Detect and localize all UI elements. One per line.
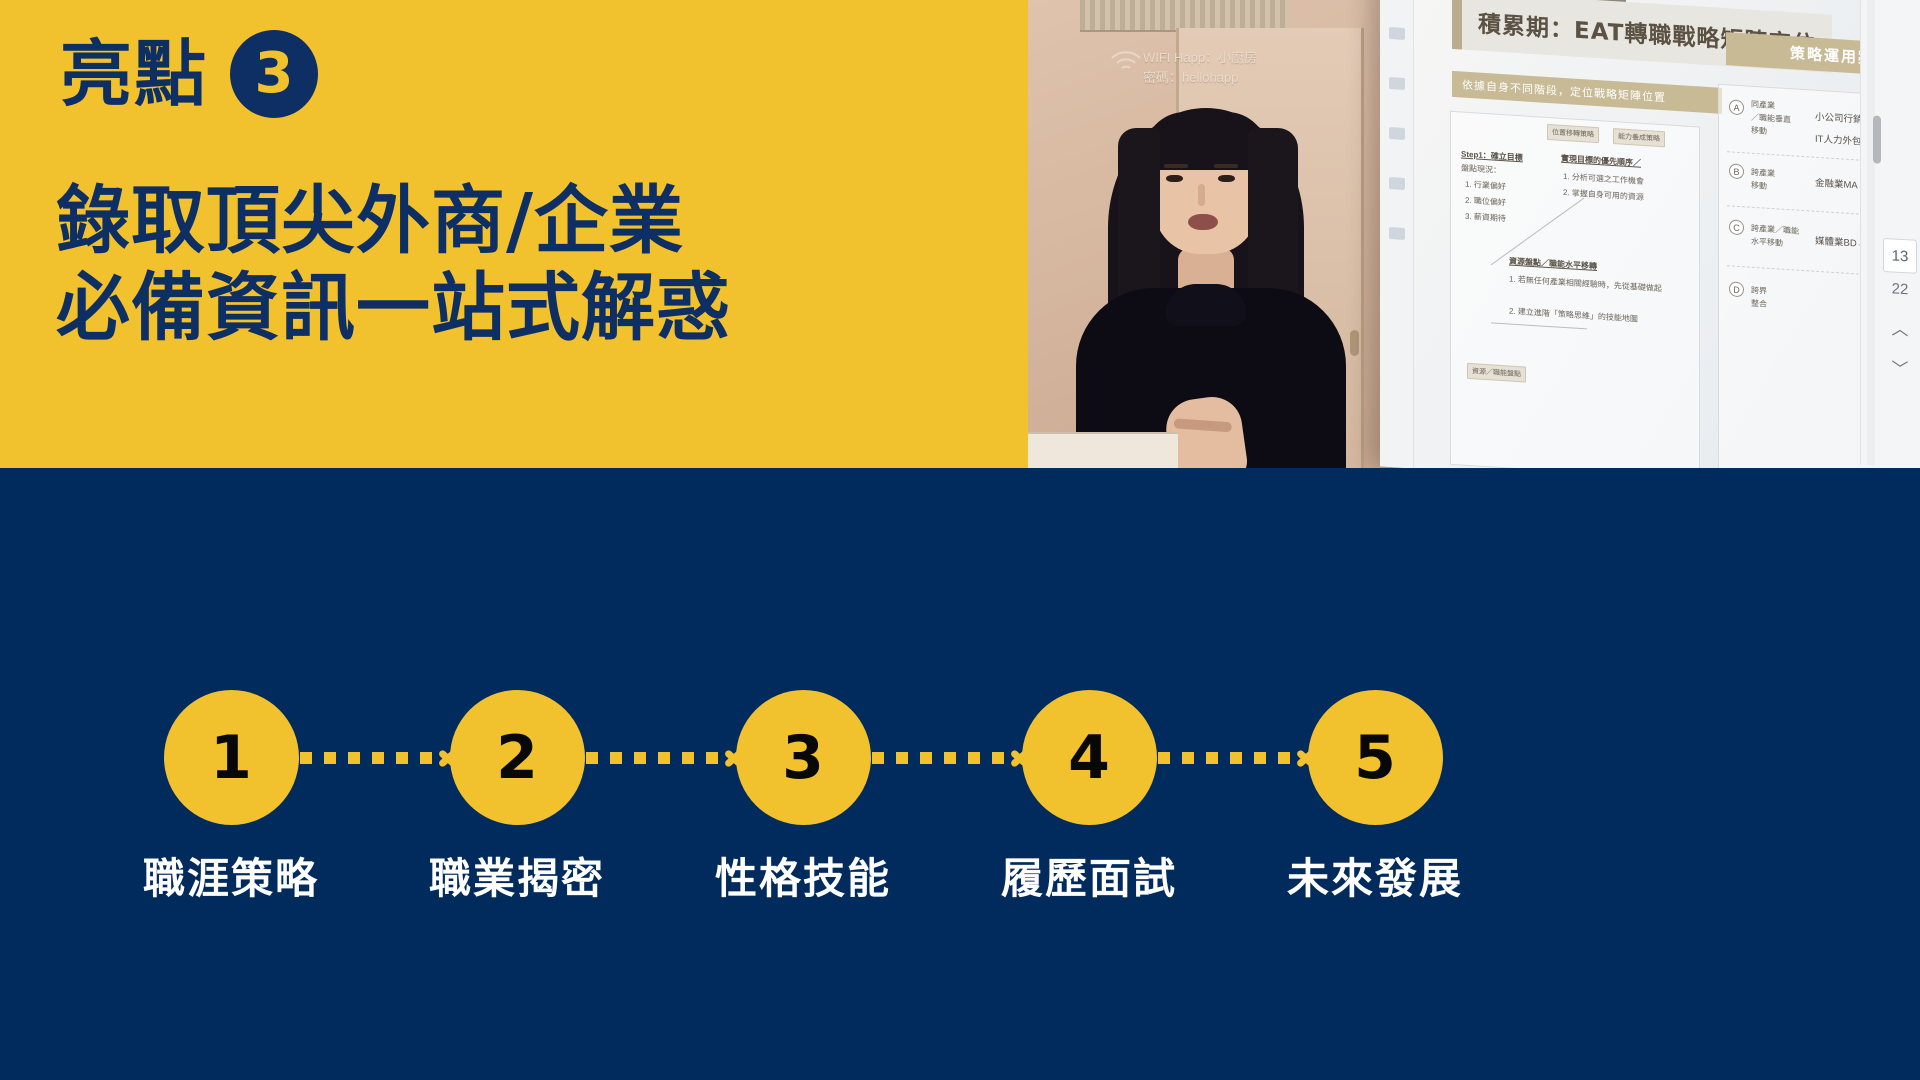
step-item-3[interactable]: 3 性格技能 (693, 690, 913, 906)
bottom-band: 1 職涯策略 2 職業揭密 3 性格技能 4 履歷面試 5 未來發展 (0, 468, 1920, 1080)
slide-content: 回顧 重點 積累期：EAT轉職戰略矩陣定位 依據自身不同階段，定位戰略矩陣位置 … (1426, 0, 1920, 468)
matrix-block3-line1: 1. 若無任何產業相關經驗時，先從基礎做起 (1509, 273, 1679, 296)
step-label: 職涯策略 (121, 845, 341, 906)
step-label: 未來發展 (1265, 845, 1485, 906)
chevron-up-icon[interactable]: ︿ (1883, 320, 1917, 339)
step-item-5[interactable]: 5 未來發展 (1265, 690, 1485, 906)
matrix-chip-a: 位置移轉策略 (1547, 124, 1599, 143)
headline-panel: 亮點 3 錄取頂尖外商/企業 必備資訊一站式解惑 (0, 0, 1028, 468)
scrollbar-thumb[interactable] (1873, 115, 1881, 163)
wifi-note: WIFI Happ：小廚房 密碼：hellohapp (1143, 48, 1257, 87)
step-number-badge[interactable]: 1 (164, 690, 299, 825)
eyebrow-row: 亮點 3 (60, 30, 318, 118)
case-badge-c: C (1729, 219, 1744, 235)
top-band: 亮點 3 錄取頂尖外商/企業 必備資訊一站式解惑 WIFI Happ：小廚房 密… (0, 0, 1920, 468)
step-label: 性格技能 (693, 845, 913, 906)
strip-thumb-3[interactable] (1389, 127, 1405, 140)
wifi-password-line: 密碼：hellohapp (1143, 68, 1257, 88)
matrix-block3-head: 資源盤點／職能水平移轉 (1509, 255, 1597, 273)
step-number-badge[interactable]: 5 (1308, 690, 1443, 825)
strip-thumb-5[interactable] (1389, 227, 1405, 240)
step-label: 履歷面試 (979, 845, 1199, 906)
matrix-block1-line2: 1. 行業偏好 (1465, 179, 1506, 194)
wifi-ssid-line: WIFI Happ：小廚房 (1143, 48, 1257, 68)
case-badge-a: A (1729, 99, 1744, 115)
slide-thumbnail-strip[interactable] (1380, 0, 1414, 468)
matrix-block1-line3: 2. 職位偏好 (1465, 195, 1506, 210)
slide-canvas: 亮點 3 錄取頂尖外商/企業 必備資訊一站式解惑 WIFI Happ：小廚房 密… (0, 0, 1920, 1080)
headline-line-1: 錄取頂尖外商/企業 (56, 178, 731, 265)
step-item-4[interactable]: 4 履歷面試 (979, 690, 1199, 906)
headline-line-2: 必備資訊一站式解惑 (56, 265, 731, 352)
slide-nav-rail: 13 22 ︿ ﹀ (1860, 0, 1920, 468)
slide-subtitle: 依據自身不同階段，定位戰略矩陣位置 (1452, 71, 1722, 114)
matrix-block2-head: 實現目標的優先順序／ (1561, 153, 1641, 171)
presenter-video: WIFI Happ：小廚房 密碼：hellohapp (1028, 0, 1920, 468)
wifi-icon (1110, 50, 1142, 74)
strip-thumb-4[interactable] (1389, 177, 1405, 190)
page-title: 錄取頂尖外商/企業 必備資訊一站式解惑 (56, 178, 731, 351)
mouth (1188, 214, 1218, 230)
step-number-badge[interactable]: 2 (450, 690, 585, 825)
slide-matrix-panel: 位置移轉策略 能力養成策略 Step1：確立目標 盤點現況： 1. 行業偏好 2… (1450, 111, 1700, 468)
eyebrow-label: 亮點 (60, 38, 208, 110)
matrix-block1-line1: 盤點現況： (1461, 162, 1501, 177)
step-number-badge[interactable]: 4 (1022, 690, 1157, 825)
step-item-2[interactable]: 2 職業揭密 (407, 690, 627, 906)
strip-thumb-1[interactable] (1389, 27, 1405, 40)
nose (1198, 184, 1205, 206)
course-stepper: 1 職涯策略 2 職業揭密 3 性格技能 4 履歷面試 5 未來發展 (0, 690, 1920, 890)
step-number-badge[interactable]: 3 (736, 690, 871, 825)
total-pages-label: 22 (1883, 280, 1917, 299)
matrix-chip-b: 能力養成策略 (1613, 128, 1665, 147)
matrix-block1-line4: 3. 薪資期待 (1465, 211, 1506, 226)
current-page-field[interactable]: 13 (1883, 238, 1917, 274)
eyebrow-right (1214, 164, 1238, 168)
scrollbar-track[interactable] (1867, 0, 1875, 465)
case-role-d: 跨界 整合 (1751, 285, 1805, 314)
case-badge-b: B (1729, 163, 1744, 179)
projected-slide: 回顧 重點 積累期：EAT轉職戰略矩陣定位 依據自身不同階段，定位戰略矩陣位置 … (1380, 0, 1920, 468)
step-item-1[interactable]: 1 職涯策略 (121, 690, 341, 906)
case-role-b: 跨產業 移動 (1751, 167, 1805, 196)
case-role-a: 同產業 ／職能垂直 移動 (1751, 99, 1805, 141)
strip-thumb-2[interactable] (1389, 77, 1405, 90)
matrix-block2-line1: 1. 分析可選之工作機會 (1563, 171, 1644, 189)
eyebrow-left (1164, 164, 1188, 168)
eye-right (1218, 175, 1235, 182)
matrix-footer-label: 資源／職能盤點 (1467, 363, 1526, 383)
turtleneck-collar (1166, 284, 1246, 326)
step-label: 職業揭密 (407, 845, 627, 906)
presenter-figure (1056, 98, 1356, 468)
case-badge-d: D (1729, 281, 1744, 297)
chevron-down-icon[interactable]: ﹀ (1883, 360, 1917, 379)
matrix-arrow-2 (1491, 322, 1587, 329)
eye-left (1166, 175, 1183, 182)
eyebrow-number-badge: 3 (230, 30, 318, 118)
case-role-c: 跨產業／職能 水平移動 (1751, 223, 1805, 252)
table-edge (1028, 432, 1178, 468)
